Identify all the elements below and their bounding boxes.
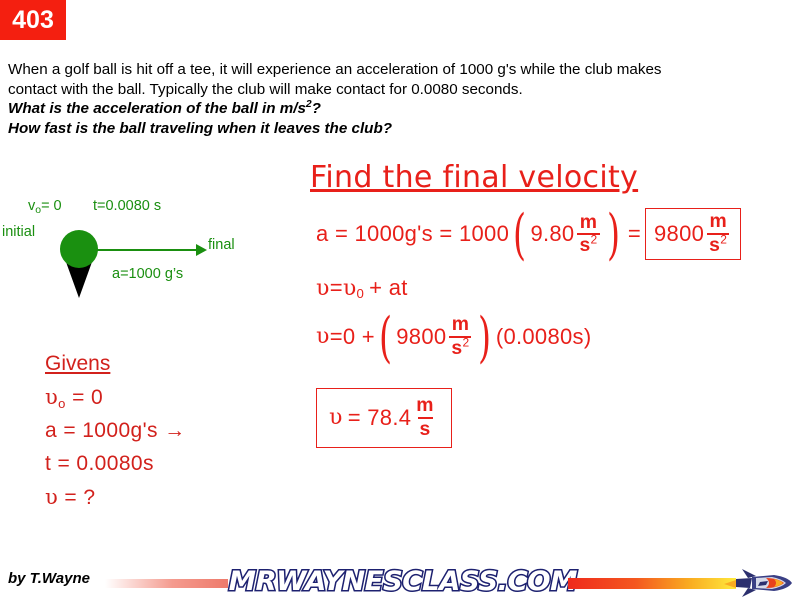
problem-statement: When a golf ball is hit off a tee, it wi… — [8, 60, 792, 138]
given-v-symbol: υ — [45, 485, 58, 509]
kinematic-v0-symbol: υ — [343, 276, 357, 301]
v0-subscript: o — [35, 205, 41, 216]
answer-unit-fraction: m s — [414, 396, 436, 439]
final-answer: υ = 78.4 m s — [316, 388, 452, 448]
motion-arrow-line — [96, 249, 201, 251]
kinematic-v0-subscript: 0 — [357, 286, 365, 301]
question-line-1: What is the acceleration of the ball in … — [8, 99, 792, 119]
diagram-acceleration-label: a=1000 g’s — [112, 266, 183, 282]
given-v-value: = ? — [64, 486, 95, 509]
subst-unit-numerator: m — [450, 315, 472, 336]
author-byline: by T.Wayne — [8, 570, 90, 587]
open-paren-icon: ( — [513, 221, 526, 249]
close-paren-icon: ) — [607, 221, 620, 249]
subst-unit-fraction: m s2 — [449, 315, 471, 358]
accel-eq-unit-fraction: m s2 — [577, 213, 599, 256]
diagram-initial-velocity-label: vo= 0 — [28, 198, 62, 214]
given-v0-subscript: o — [58, 396, 66, 411]
question-line-2: How fast is the ball traveling when it l… — [8, 119, 792, 139]
accel-unit-den-exp: 2 — [591, 233, 598, 247]
accel-result-unit-denominator: s2 — [707, 233, 729, 256]
final-answer-box: υ = 78.4 m s — [316, 388, 452, 448]
motion-arrow-head — [196, 244, 207, 256]
site-wordmark[interactable]: MRWAYNESCLASS.COM — [229, 566, 577, 597]
golf-ball-shape — [60, 230, 98, 268]
kinematic-equation: υ = υ0 + at — [316, 275, 408, 301]
subst-close-paren-icon: ) — [479, 324, 492, 352]
acceleration-equation: a = 1000g's = 1000 ( 9.80 m s2 ) = 9800 … — [316, 208, 741, 260]
answer-value: = 78.4 — [348, 405, 412, 431]
given-time: t = 0.0080s — [45, 452, 186, 476]
acceleration-result-box: 9800 m s2 — [645, 208, 741, 260]
subst-accel-value: 9800 — [396, 324, 446, 350]
accel-result-unit-fraction: m s2 — [707, 212, 729, 255]
accel-eq-lhs: a = 1000g's = 1000 — [316, 221, 509, 247]
diagram-final-label: final — [208, 237, 235, 253]
accel-eq-coefficient: 9.80 — [530, 221, 574, 247]
footer-trail-left — [105, 579, 228, 588]
subst-unit-den-exp: 2 — [463, 335, 470, 349]
rocket-icon — [722, 568, 794, 598]
given-v0-symbol: υ — [45, 385, 58, 409]
accel-eq-equals: = — [628, 221, 641, 247]
accel-result-unit-numerator: m — [707, 212, 729, 233]
diagram-time-label: t=0.0080 s — [93, 198, 161, 214]
motion-diagram: vo= 0 t=0.0080 s initial final a=1000 g’… — [0, 196, 300, 306]
kinematic-equals: = — [330, 275, 343, 301]
slide-number-badge: 403 — [0, 0, 66, 40]
givens-block: Givens υo = 0 a = 1000g's → t = 0.0080s … — [45, 352, 186, 519]
answer-unit-numerator: m — [414, 396, 436, 417]
subst-unit-denominator: s2 — [449, 336, 471, 359]
given-acceleration: a = 1000g's → — [45, 419, 186, 443]
given-unknown-velocity: υ = ? — [45, 485, 186, 510]
question-1-text: What is the acceleration of the ball in … — [8, 100, 306, 117]
answer-unit-denominator: s — [418, 417, 433, 440]
footer: by T.Wayne MRWAYNESCLASS.COM — [0, 552, 800, 600]
kinematic-rest: + at — [369, 275, 408, 301]
accel-result-value: 9800 — [654, 221, 704, 247]
givens-title: Givens — [45, 352, 186, 376]
accel-unit-denominator: s2 — [577, 233, 599, 256]
subst-unit-den-base: s — [451, 337, 462, 359]
subst-v-symbol: υ — [316, 324, 330, 349]
given-v0-value: = 0 — [72, 386, 103, 409]
statement-line-2: contact with the ball. Typically the clu… — [8, 80, 792, 100]
subst-start: =0 + — [330, 324, 375, 350]
accel-unit-den-base: s — [579, 234, 590, 256]
footer-trail-right — [568, 578, 736, 589]
solution-title: Find the final velocity — [310, 160, 638, 195]
accel-unit-numerator: m — [578, 213, 600, 234]
accel-result-den-base: s — [709, 234, 720, 256]
v0-value: = 0 — [41, 198, 62, 214]
given-initial-velocity: υo = 0 — [45, 385, 186, 410]
kinematic-v-symbol: υ — [316, 276, 330, 301]
diagram-initial-label: initial — [2, 224, 35, 240]
subst-open-paren-icon: ( — [379, 324, 392, 352]
subst-time-factor: (0.0080s) — [496, 324, 592, 350]
answer-v-symbol: υ — [329, 405, 343, 430]
statement-line-1: When a golf ball is hit off a tee, it wi… — [8, 60, 792, 80]
question-1-mark: ? — [312, 100, 321, 117]
accel-result-den-exp: 2 — [720, 232, 727, 246]
substitution-equation: υ =0 + ( 9800 m s2 ) (0.0080s) — [316, 315, 591, 358]
